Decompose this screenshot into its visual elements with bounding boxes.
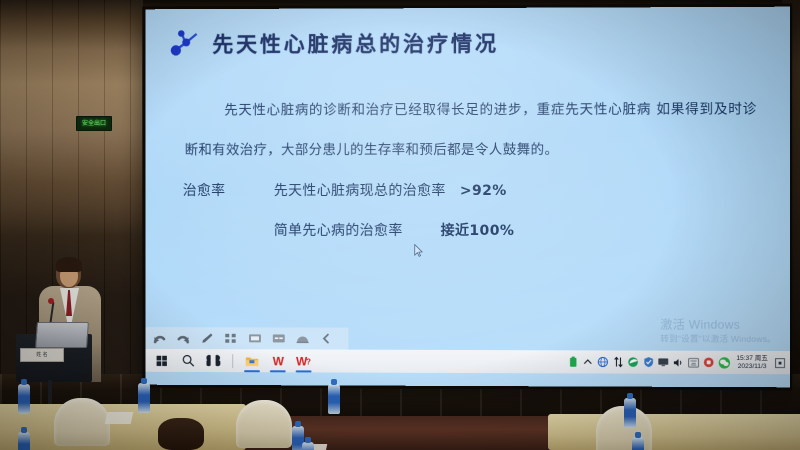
next-slide-button[interactable] — [173, 329, 194, 347]
zoom-button[interactable] — [244, 329, 265, 347]
water-bottle — [302, 442, 314, 450]
browser-tray-icon[interactable] — [627, 356, 639, 368]
display-icon[interactable] — [658, 356, 670, 368]
show-hidden-icons-button[interactable] — [582, 356, 594, 368]
clock-time: 15:37 周五 — [736, 354, 767, 362]
water-bottle — [18, 432, 30, 450]
presenter-view-button[interactable] — [292, 330, 313, 348]
watermark-title: 激活 Windows — [660, 317, 776, 332]
audience-table-left — [0, 404, 246, 450]
folder-icon — [245, 355, 259, 367]
show-desktop-button[interactable] — [774, 357, 786, 369]
taskbar-divider — [232, 354, 233, 368]
speaker-hair — [56, 257, 82, 272]
battery-icon[interactable] — [567, 356, 579, 368]
podium-pole — [48, 380, 52, 406]
caption-icon — [271, 332, 285, 344]
watermark-subtitle: 转到"设置"以激活 Windows。 — [660, 333, 776, 345]
security-icon[interactable] — [643, 356, 655, 368]
wps-w-icon: W — [270, 354, 285, 367]
water-bottle — [138, 383, 150, 413]
presenter-icon — [295, 333, 309, 345]
audience-member — [158, 418, 204, 450]
table-paper — [105, 412, 134, 424]
audience-chair — [236, 400, 292, 448]
system-tray[interactable]: 15:37 周五 2023/11/3 — [567, 354, 790, 371]
recorder-icon[interactable] — [703, 356, 715, 368]
audience-table-right — [548, 414, 800, 450]
start-button[interactable] — [151, 350, 173, 371]
exit-sign-label: 安全出口 — [82, 121, 106, 127]
arrow-right-icon — [177, 333, 190, 344]
cure-rate-value: >92% — [460, 184, 507, 198]
water-bottle — [632, 437, 644, 450]
cure-rate-description: 简单先心病的治愈率 — [274, 224, 403, 238]
magnify-rect-icon — [248, 332, 262, 344]
file-explorer-button[interactable] — [241, 350, 263, 371]
podium-nameplate: 姓 名 — [20, 348, 64, 362]
podium-nameplate-label: 姓 名 — [21, 349, 63, 361]
slide-overview-button[interactable] — [220, 329, 241, 347]
slide-title: 先天性心脏病总的治疗情况 — [212, 28, 499, 59]
pen-icon — [201, 332, 214, 344]
cure-rate-row: 简单先心病的治愈率 接近100% — [183, 224, 763, 238]
network-nodes-icon — [167, 27, 201, 61]
sync-icon[interactable] — [612, 356, 624, 368]
water-bottle — [328, 384, 340, 414]
task-view-icon — [206, 354, 220, 367]
clock-date: 2023/11/3 — [736, 362, 767, 370]
water-bottle — [18, 384, 30, 414]
previous-slide-button[interactable] — [149, 329, 170, 347]
search-icon — [181, 354, 194, 367]
cure-rate-block: 治愈率 先天性心脏病现总的治愈率 >92% 简单先心病的治愈率 接近100% — [183, 184, 763, 238]
ellipsis-icon — [320, 333, 332, 345]
water-bottle — [624, 398, 636, 428]
slide-title-row: 先天性心脏病总的治疗情况 — [167, 26, 499, 61]
emergency-exit-sign: 安全出口 — [76, 116, 112, 131]
microphone-head — [48, 298, 54, 304]
cure-rate-description: 先天性心脏病现总的治愈率 — [274, 184, 446, 198]
presenter-at-podium: 姓 名 — [6, 252, 136, 382]
pen-tool-button[interactable] — [197, 329, 218, 347]
volume-icon[interactable] — [673, 356, 685, 368]
cure-rate-label: 治愈率 — [183, 184, 274, 198]
windows-logo-icon — [156, 354, 168, 366]
task-view-button[interactable] — [203, 350, 225, 371]
svg-text:?: ? — [306, 357, 311, 366]
wps-w-alt-icon: W ? — [296, 354, 312, 367]
taskbar-clock[interactable]: 15:37 周五 2023/11/3 — [733, 354, 771, 370]
screenshot-root: 安全出口 先天性心脏病总的治疗情况 先天性心脏病的诊断和治疗已经取得长足的进步，… — [0, 0, 800, 450]
more-options-button[interactable] — [316, 330, 337, 348]
wps-writer-button[interactable]: W — [267, 350, 289, 371]
arrow-left-icon — [153, 333, 166, 344]
wps-presentation-button[interactable]: W ? — [293, 350, 315, 371]
network-icon[interactable] — [597, 356, 609, 368]
presenter-laptop — [35, 322, 89, 348]
presentation-slide: 先天性心脏病总的治疗情况 先天性心脏病的诊断和治疗已经取得长足的进步，重症先天性… — [145, 7, 790, 388]
slideshow-control-bar[interactable] — [145, 327, 348, 350]
subtitles-button[interactable] — [268, 329, 289, 347]
grid-icon — [224, 332, 237, 344]
slide-paragraph: 先天性心脏病的诊断和治疗已经取得长足的进步，重症先天性心脏病 如果得到及时诊断和… — [185, 89, 757, 170]
windows-activation-watermark: 激活 Windows 转到"设置"以激活 Windows。 — [660, 317, 776, 344]
input-method-icon[interactable] — [688, 356, 700, 368]
windows-taskbar[interactable]: W W ? — [145, 349, 790, 374]
cure-rate-row: 治愈率 先天性心脏病现总的治愈率 >92% — [183, 184, 763, 198]
cure-rate-value: 接近100% — [441, 224, 515, 238]
audience-chair — [54, 398, 110, 446]
wechat-icon[interactable] — [718, 356, 730, 368]
mouse-cursor — [414, 244, 423, 257]
svg-text:W: W — [272, 354, 284, 367]
search-button[interactable] — [177, 350, 199, 371]
taskbar-left-group: W W ? — [145, 350, 314, 371]
